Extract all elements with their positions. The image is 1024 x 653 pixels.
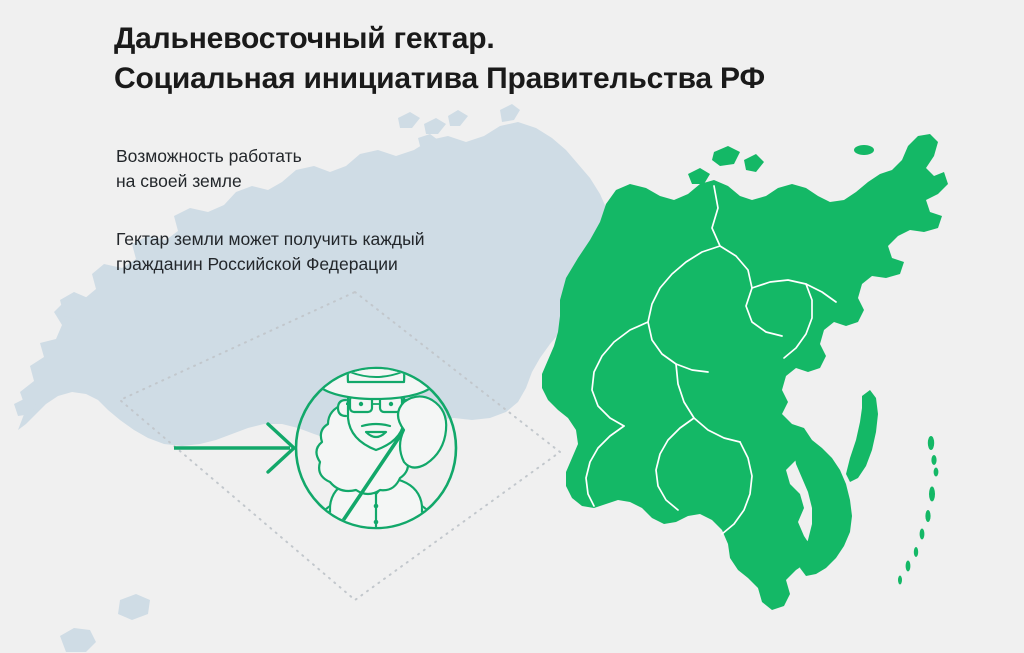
arrow-icon xyxy=(174,424,294,472)
callout-group xyxy=(0,0,1024,653)
farmer-emblem xyxy=(296,347,456,540)
infographic-poster: Дальневосточный гектар. Социальная иници… xyxy=(0,0,1024,653)
